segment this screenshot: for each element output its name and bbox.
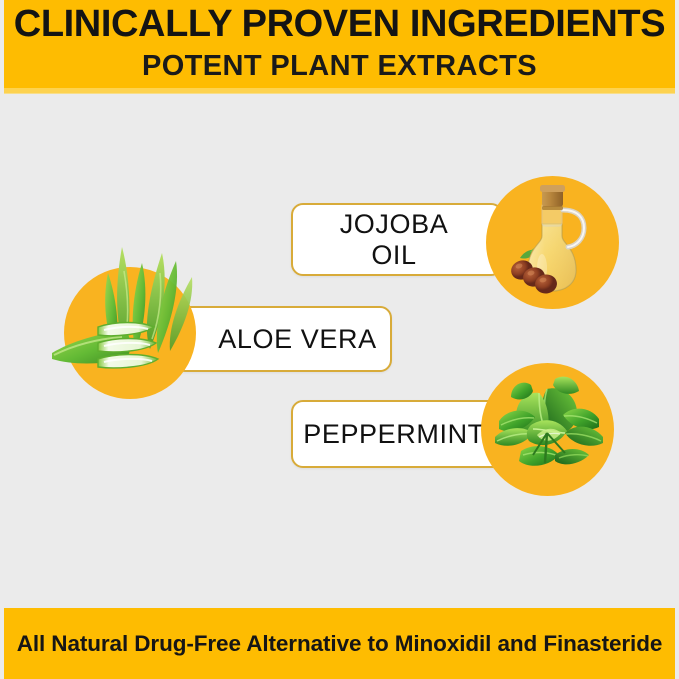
footer-tagline: All Natural Drug-Free Alternative to Min… (17, 631, 663, 657)
ingredient-label-line2: OIL (371, 240, 416, 270)
ingredient-circle-jojoba-oil (486, 176, 619, 309)
aloe-vera-plant-icon (64, 267, 196, 399)
ingredient-label-line1: JOJOBA (340, 209, 449, 239)
ingredient-circle-aloe-vera (64, 267, 196, 399)
ingredient-label-text: JOJOBA OIL (293, 209, 501, 271)
ingredient-circle-peppermint (481, 363, 614, 496)
ingredients-infographic: CLINICALLY PROVEN INGREDIENTS POTENT PLA… (0, 0, 679, 679)
page-subtitle: POTENT PLANT EXTRACTS (142, 46, 537, 86)
footer-banner: All Natural Drug-Free Alternative to Min… (4, 608, 675, 679)
peppermint-leaves-icon (481, 363, 614, 496)
header-banner: CLINICALLY PROVEN INGREDIENTS POTENT PLA… (4, 0, 675, 93)
ingredient-label-jojoba-oil: JOJOBA OIL (291, 203, 503, 276)
header-banner-highlight (4, 88, 675, 94)
ingredient-label-text: PEPPERMINT (293, 419, 511, 450)
page-title: CLINICALLY PROVEN INGREDIENTS (14, 2, 665, 46)
jojoba-oil-bottle-icon (486, 176, 619, 309)
ingredient-label-aloe-vera: ALOE VERA (173, 306, 392, 372)
ingredient-label-text: ALOE VERA (175, 324, 390, 355)
ingredient-label-peppermint: PEPPERMINT (291, 400, 513, 468)
